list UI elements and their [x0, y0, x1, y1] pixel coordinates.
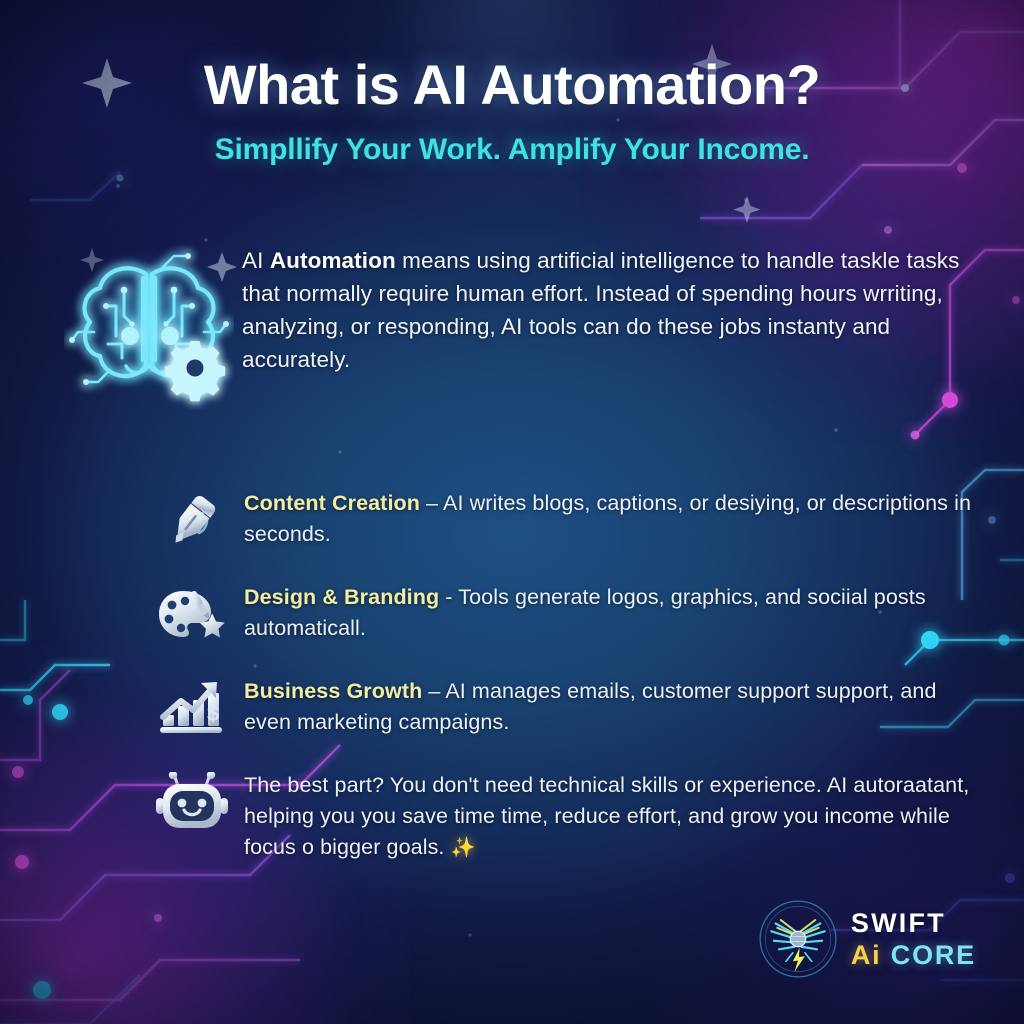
- list-item-text: Content Creation – AI writes blogs, capt…: [244, 484, 980, 550]
- page-subtitle: Simpllify Your Work. Amplify Your Income…: [0, 133, 1024, 167]
- robot-icon: [156, 772, 228, 832]
- ai-automation-infographic: What is AI Automation? Simpllify Your Wo…: [0, 0, 1024, 1024]
- logo-core-text: CORE: [881, 940, 976, 970]
- list-item-heading: Business Growth: [244, 679, 422, 703]
- pen-icon-wrapper: [140, 484, 244, 556]
- intro-bold-term: Automation: [270, 248, 396, 273]
- list-item: $ Business Growth – AI manages emails, c…: [140, 672, 980, 744]
- list-item: Design & Branding - Tools generate logos…: [140, 578, 980, 650]
- intro-block: AI Automation means using artificial int…: [56, 236, 968, 416]
- list-item: The best part? You don't need technical …: [140, 766, 980, 864]
- palette-icon: [157, 587, 227, 641]
- list-item-text: Business Growth – AI manages emails, cus…: [244, 672, 980, 738]
- list-item-body: The best part? You don't need technical …: [244, 773, 969, 859]
- list-item-text: Design & Branding - Tools generate logos…: [244, 578, 980, 644]
- robot-icon-wrapper: [140, 766, 244, 838]
- pen-icon: [161, 491, 223, 549]
- growth-chart-icon-wrapper: $: [140, 672, 244, 744]
- list-item-text: The best part? You don't need technical …: [244, 766, 980, 864]
- circuit-brain-gear-icon: [64, 240, 234, 410]
- logo-wordmark: SWIFT Ai CORE: [851, 910, 976, 969]
- svg-text:$: $: [207, 701, 219, 726]
- intro-lead: AI: [242, 248, 270, 273]
- intro-paragraph: AI Automation means using artificial int…: [242, 236, 968, 376]
- list-item-dash: –: [420, 491, 443, 515]
- feature-list: Content Creation – AI writes blogs, capt…: [140, 484, 980, 886]
- logo-ai-text: Ai: [851, 940, 882, 970]
- logo-line-aicore: Ai CORE: [851, 942, 976, 969]
- logo-line-swift: SWIFT: [851, 910, 976, 937]
- list-item-dash: –: [422, 679, 445, 703]
- sparkle-emoji-icon: ✨: [451, 837, 476, 859]
- winged-emblem-icon: [755, 896, 841, 982]
- list-item-heading: Design & Branding: [244, 585, 439, 609]
- page-title: What is AI Automation?: [0, 52, 1024, 117]
- brand-logo[interactable]: SWIFT Ai CORE: [755, 896, 976, 982]
- palette-icon-wrapper: [140, 578, 244, 650]
- list-item: Content Creation – AI writes blogs, capt…: [140, 484, 980, 556]
- growth-chart-icon: $: [157, 679, 227, 737]
- list-item-dash: -: [439, 585, 458, 609]
- brain-icon-wrapper: [56, 236, 242, 416]
- list-item-heading: Content Creation: [244, 491, 420, 515]
